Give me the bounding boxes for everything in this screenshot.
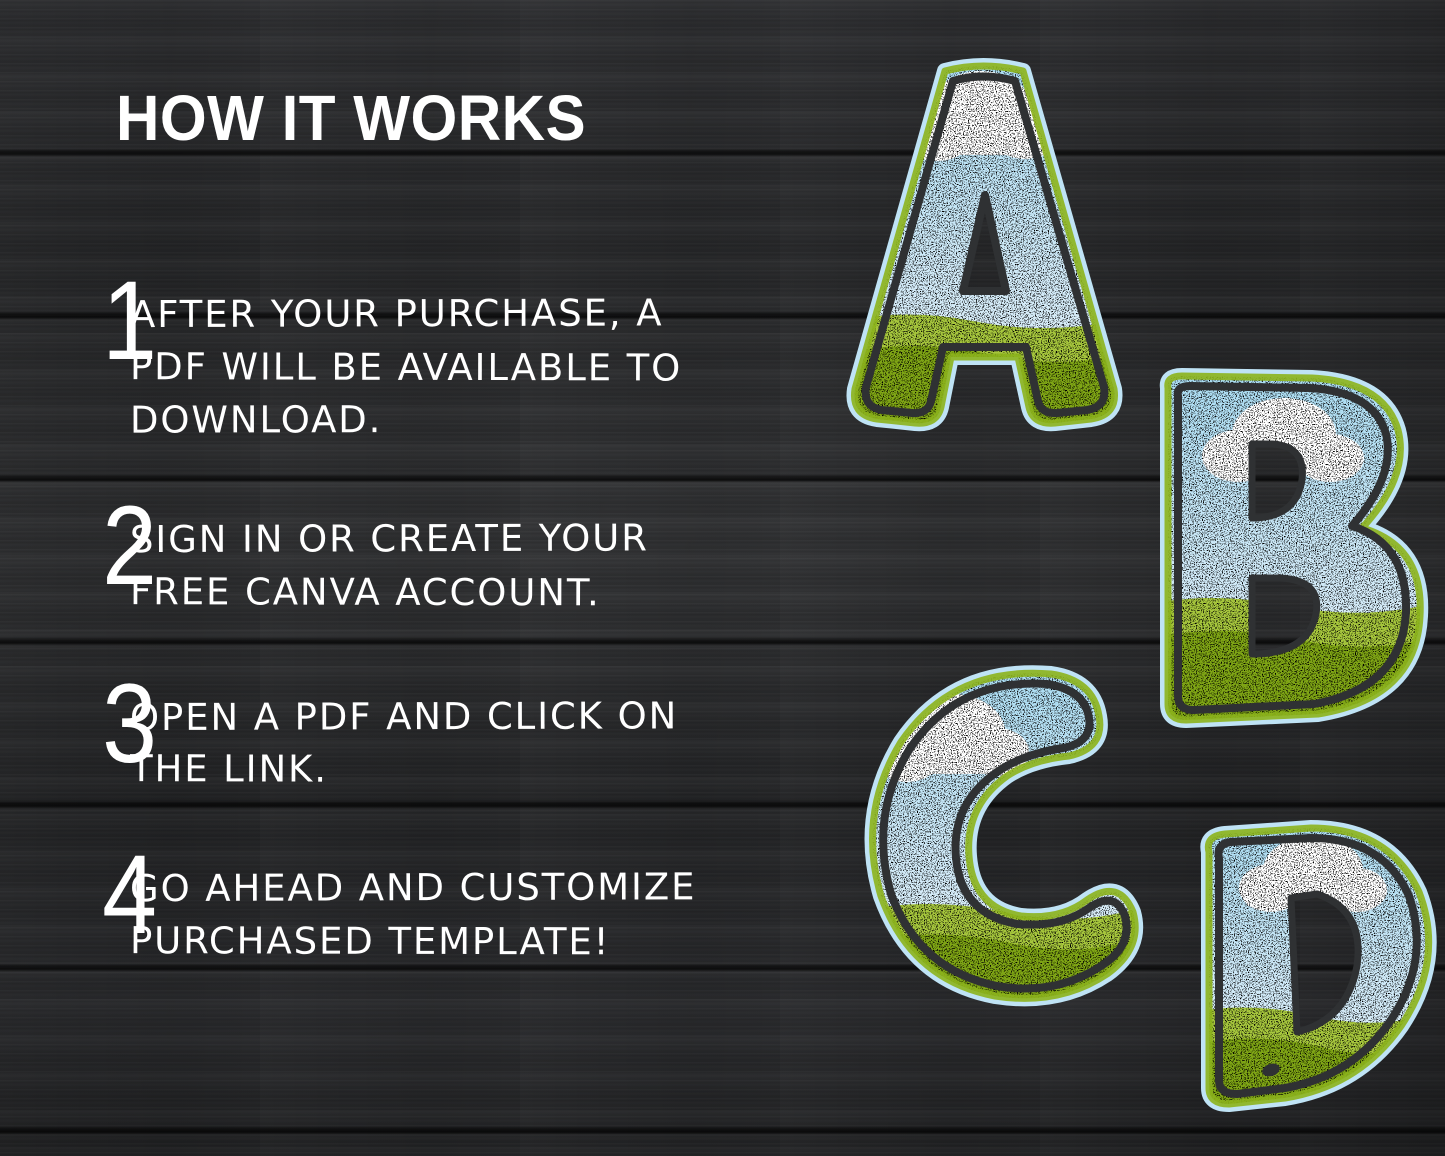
step-text-line: THE LINK. xyxy=(130,744,810,799)
step-number: 3 xyxy=(0,675,114,774)
step-text: GO AHEAD AND CUSTOMIZE PURCHASED TEMPLAT… xyxy=(130,846,830,968)
steps-list: 1 AFTER YOUR PURCHASE, A PDF WILL BE AVA… xyxy=(0,272,830,968)
decorative-letter-b[interactable] xyxy=(1140,368,1445,738)
step-text-line: DOWNLOAD. xyxy=(130,393,810,447)
list-item: 4 GO AHEAD AND CUSTOMIZE PURCHASED TEMPL… xyxy=(0,846,830,968)
step-number: 4 xyxy=(0,846,114,945)
step-number: 2 xyxy=(0,497,114,596)
step-text: AFTER YOUR PURCHASE, A PDF WILL BE AVAIL… xyxy=(130,272,830,447)
page-title: HOW IT WORKS xyxy=(116,86,586,150)
step-text-line: PURCHASED TEMPLATE! xyxy=(130,915,810,970)
list-item: 2 SIGN IN OR CREATE YOUR FREE CANVA ACCO… xyxy=(0,497,830,619)
step-text-line: AFTER YOUR PURCHASE, A xyxy=(130,287,810,342)
decorative-letter-d[interactable] xyxy=(1185,818,1445,1118)
instructions-panel: HOW IT WORKS 1 AFTER YOUR PURCHASE, A PD… xyxy=(0,0,830,1156)
decorative-letter-a[interactable] xyxy=(833,55,1133,435)
step-text: OPEN A PDF AND CLICK ON THE LINK. xyxy=(130,675,830,797)
step-text-line: GO AHEAD AND CUSTOMIZE xyxy=(130,861,810,916)
list-item: 3 OPEN A PDF AND CLICK ON THE LINK. xyxy=(0,675,830,797)
step-text-line: OPEN A PDF AND CLICK ON xyxy=(130,689,810,744)
step-text-line: PDF WILL BE AVAILABLE TO xyxy=(130,341,810,396)
decorative-letter-c[interactable] xyxy=(855,660,1145,1015)
list-item: 1 AFTER YOUR PURCHASE, A PDF WILL BE AVA… xyxy=(0,272,830,447)
step-text-line: FREE CANVA ACCOUNT. xyxy=(130,566,810,621)
step-text: SIGN IN OR CREATE YOUR FREE CANVA ACCOUN… xyxy=(130,497,830,619)
step-text-line: SIGN IN OR CREATE YOUR xyxy=(130,512,810,567)
poster-canvas: HOW IT WORKS 1 AFTER YOUR PURCHASE, A PD… xyxy=(0,0,1445,1156)
step-number: 1 xyxy=(0,272,114,371)
